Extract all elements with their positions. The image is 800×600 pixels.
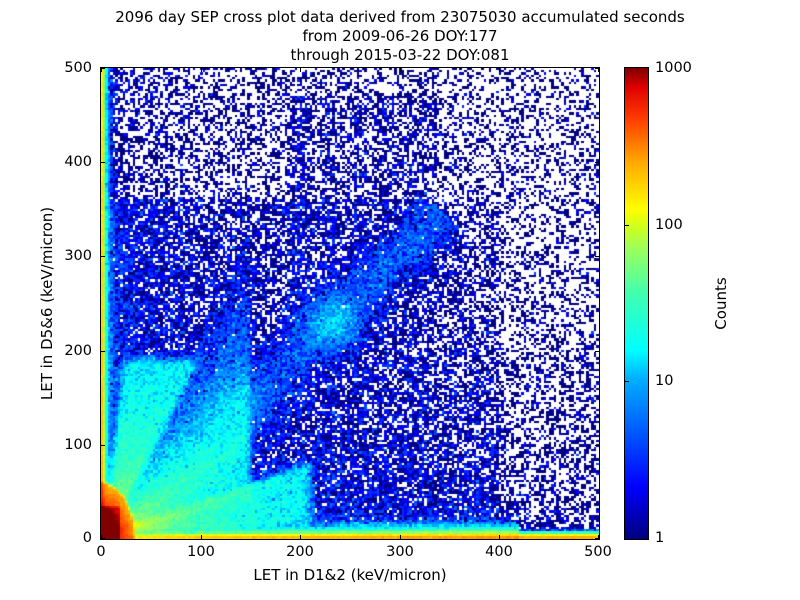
x-tick [201,535,202,539]
x-tick-label: 0 [96,544,105,560]
x-tick [499,535,500,539]
y-tick-right [595,68,599,69]
y-tick-right [595,351,599,352]
y-tick-label: 200 [64,343,92,359]
x-tick-top [300,68,301,72]
x-tick-label: 500 [584,544,612,560]
colorbar-label: Counts [712,67,730,540]
x-axis-label: LET in D1&2 (keV/micron) [100,566,600,584]
x-tick-top [400,68,401,72]
x-tick-label: 100 [187,544,215,560]
title-line-1: 2096 day SEP cross plot data derived fro… [0,8,800,27]
x-tick-top [201,68,202,72]
y-axis-label: LET in D5&6 (keV/micron) [38,67,56,540]
y-tick [101,445,105,446]
y-tick [101,351,105,352]
x-tick [400,535,401,539]
y-tick [101,538,105,539]
y-tick-right [595,445,599,446]
colorbar-tick-label: 1 [655,530,664,546]
y-tick-label: 0 [83,530,92,546]
x-tick-label: 400 [485,544,513,560]
colorbar-tick [625,225,629,226]
plot-axes [100,67,600,540]
y-tick-right [595,538,599,539]
y-tick-label: 100 [64,437,92,453]
colorbar-tick-label: 10 [655,373,673,389]
x-tick [300,535,301,539]
density-heatmap-canvas [101,68,599,539]
y-tick [101,162,105,163]
x-tick-label: 200 [286,544,314,560]
colorbar-tick [625,381,629,382]
y-tick-label: 300 [64,248,92,264]
colorbar [624,67,649,540]
figure: 2096 day SEP cross plot data derived fro… [0,0,800,600]
y-tick-label: 400 [64,154,92,170]
y-tick-right [595,162,599,163]
y-tick [101,256,105,257]
y-tick-right [595,256,599,257]
x-tick-top [499,68,500,72]
colorbar-tick-label: 1000 [655,60,692,76]
title-line-2: from 2009-06-26 DOY:177 [0,27,800,46]
x-tick-label: 300 [386,544,414,560]
y-tick [101,68,105,69]
colorbar-tick-label: 100 [655,217,683,233]
plot-title: 2096 day SEP cross plot data derived fro… [0,8,800,65]
y-tick-label: 500 [64,60,92,76]
colorbar-gradient [625,68,648,539]
